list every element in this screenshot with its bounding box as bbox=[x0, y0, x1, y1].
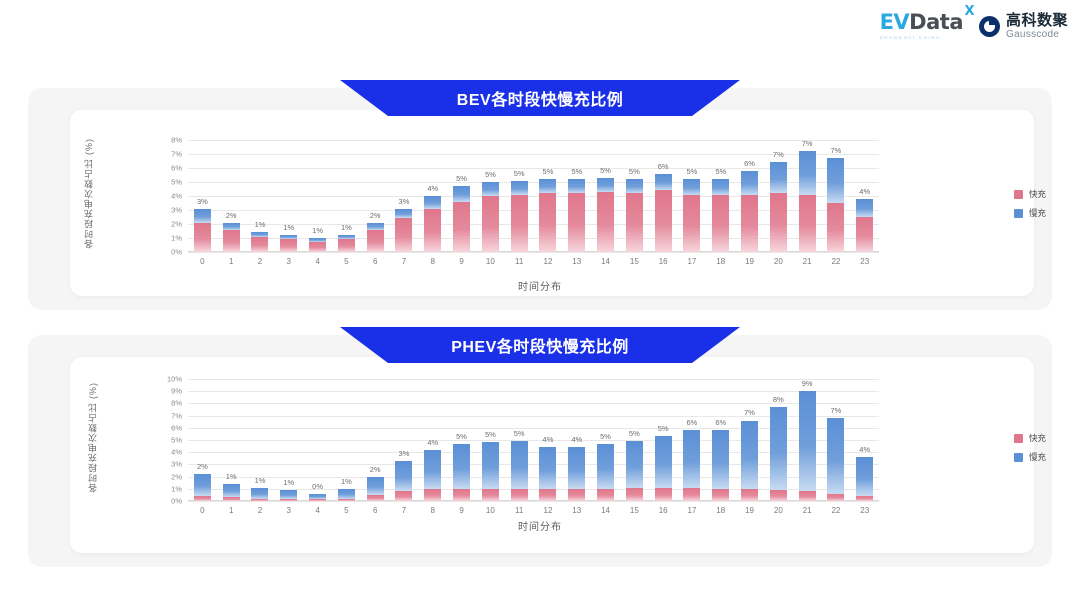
phev-stacked-bar[interactable]: 5% bbox=[655, 436, 672, 501]
phev-x-tick-label: 18 bbox=[716, 506, 725, 515]
bev-bar-slot[interactable]: 7%22 bbox=[822, 140, 851, 252]
bev-bar-slot[interactable]: 5%9 bbox=[447, 140, 476, 252]
bev-bar-segment-fast bbox=[770, 193, 787, 252]
bev-bar-segment-fast bbox=[799, 195, 816, 252]
bev-stacked-bar[interactable]: 5% bbox=[626, 179, 643, 252]
phev-y-axis-label: 各时段充电次数占比 (%) bbox=[86, 382, 99, 493]
evdata-suffix: Data bbox=[909, 10, 963, 34]
bev-y-tick-label: 5% bbox=[171, 178, 182, 187]
phev-bar-value-label: 2% bbox=[197, 462, 208, 471]
bev-bar-value-label: 7% bbox=[802, 139, 813, 148]
bev-bar-segment-slow bbox=[568, 179, 585, 193]
phev-bar-value-label: 2% bbox=[370, 465, 381, 474]
bev-bar-slot[interactable]: 5%11 bbox=[505, 140, 534, 252]
bev-x-tick-label: 12 bbox=[544, 257, 553, 266]
phev-bar-segment-slow bbox=[482, 442, 499, 488]
phev-bar-value-label: 1% bbox=[341, 477, 352, 486]
bev-stacked-bar[interactable]: 1% bbox=[251, 232, 268, 252]
phev-x-tick-label: 4 bbox=[315, 506, 319, 515]
phev-x-tick-label: 16 bbox=[659, 506, 668, 515]
phev-y-tick-label: 4% bbox=[171, 448, 182, 457]
bev-stacked-bar[interactable]: 6% bbox=[655, 174, 672, 252]
phev-bar-slot[interactable]: 4%12 bbox=[534, 379, 563, 501]
phev-bar-slot[interactable]: 5%14 bbox=[591, 379, 620, 501]
evdata-wordmark: EVDataX bbox=[880, 12, 963, 33]
bev-x-tick-label: 23 bbox=[860, 257, 869, 266]
bev-x-tick-label: 15 bbox=[630, 257, 639, 266]
bev-stacked-bar[interactable]: 5% bbox=[568, 179, 585, 252]
phev-bar-slot[interactable]: 5%10 bbox=[476, 379, 505, 501]
bev-stacked-bar[interactable]: 5% bbox=[511, 181, 528, 252]
phev-bar-slot[interactable]: 6%17 bbox=[678, 379, 707, 501]
phev-bar-value-label: 5% bbox=[485, 430, 496, 439]
bev-bar-value-label: 2% bbox=[370, 211, 381, 220]
bev-bar-value-label: 4% bbox=[859, 187, 870, 196]
phev-bar-segment-slow bbox=[683, 430, 700, 487]
phev-y-tick-label: 8% bbox=[171, 399, 182, 408]
phev-bar-slot[interactable]: 1%2 bbox=[246, 379, 275, 501]
phev-x-tick-label: 20 bbox=[774, 506, 783, 515]
bev-bar-slot[interactable]: 3%7 bbox=[390, 140, 419, 252]
bev-bar-value-label: 3% bbox=[399, 197, 410, 206]
bev-bar-segment-slow bbox=[367, 223, 384, 230]
phev-bar-slot[interactable]: 8%20 bbox=[764, 379, 793, 501]
phev-bar-value-label: 1% bbox=[255, 476, 266, 485]
bev-bar-slot[interactable]: 5%15 bbox=[620, 140, 649, 252]
phev-bar-segment-fast bbox=[338, 499, 355, 501]
bev-bar-slot[interactable]: 2%6 bbox=[361, 140, 390, 252]
phev-stacked-bar[interactable]: 6% bbox=[683, 430, 700, 501]
bev-gridline bbox=[188, 252, 879, 253]
phev-bar-slot[interactable]: 2%6 bbox=[361, 379, 390, 501]
bev-bar-segment-fast bbox=[424, 209, 441, 252]
phev-bar-segment-fast bbox=[280, 499, 297, 501]
bev-bar-value-label: 7% bbox=[773, 150, 784, 159]
phev-chart-title-ribbon: PHEV各时段快慢充比例 bbox=[340, 327, 740, 363]
phev-bar-segment-fast bbox=[770, 490, 787, 501]
phev-bar-segment-fast bbox=[482, 489, 499, 501]
bev-x-tick-label: 10 bbox=[486, 257, 495, 266]
bev-stacked-bar[interactable]: 1% bbox=[338, 235, 355, 252]
bev-bar-segment-slow bbox=[827, 158, 844, 203]
phev-bar-segment-slow bbox=[712, 430, 729, 489]
bev-x-tick-label: 22 bbox=[831, 257, 840, 266]
bev-bar-value-label: 1% bbox=[283, 223, 294, 232]
phev-y-tick-label: 2% bbox=[171, 472, 182, 481]
phev-bar-slot[interactable]: 0%4 bbox=[303, 379, 332, 501]
phev-y-tick-label: 9% bbox=[171, 387, 182, 396]
bev-bar-value-label: 1% bbox=[312, 226, 323, 235]
phev-x-tick-label: 12 bbox=[544, 506, 553, 515]
phev-bar-value-label: 0% bbox=[312, 482, 323, 491]
bev-bar-value-label: 7% bbox=[831, 146, 842, 155]
phev-bar-segment-fast bbox=[741, 489, 758, 501]
bev-bar-segment-fast bbox=[539, 193, 556, 252]
phev-bar-value-label: 4% bbox=[543, 435, 554, 444]
phev-bar-value-label: 4% bbox=[571, 435, 582, 444]
bev-chart: 0%1%2%3%4%5%6%7%8%3%02%11%21%31%41%52%63… bbox=[70, 110, 1034, 296]
phev-bar-segment-fast bbox=[712, 489, 729, 501]
evdata-logo-icon: EVDataX SHANGHAI CHINA bbox=[880, 12, 963, 40]
bev-bar-segment-fast bbox=[453, 202, 470, 252]
phev-bar-value-label: 7% bbox=[831, 406, 842, 415]
gausscode-cn-name: 高科数聚 bbox=[1006, 13, 1068, 28]
bev-bar-slot[interactable]: 5%10 bbox=[476, 140, 505, 252]
bev-chart-title-ribbon: BEV各时段快慢充比例 bbox=[340, 80, 740, 116]
phev-legend-item-fast[interactable]: 快充 bbox=[1014, 432, 1046, 444]
bev-stacked-bar[interactable]: 7% bbox=[770, 162, 787, 252]
evdata-x-mark: X bbox=[964, 5, 974, 18]
header-logo-bar: EVDataX SHANGHAI CHINA 高科数聚 Gausscode bbox=[880, 12, 1068, 40]
bev-bar-slot[interactable]: 3%0 bbox=[188, 140, 217, 252]
phev-bar-value-label: 6% bbox=[687, 418, 698, 427]
phev-bar-segment-slow bbox=[367, 477, 384, 495]
phev-bar-segment-slow bbox=[626, 441, 643, 487]
phev-bar-segment-slow bbox=[194, 474, 211, 496]
bev-bar-segment-fast bbox=[683, 195, 700, 252]
phev-bar-value-label: 5% bbox=[514, 429, 525, 438]
bev-bar-slot[interactable]: 5%14 bbox=[591, 140, 620, 252]
phev-x-tick-label: 0 bbox=[200, 506, 204, 515]
phev-stacked-bar[interactable]: 4% bbox=[539, 447, 556, 501]
bev-x-tick-label: 14 bbox=[601, 257, 610, 266]
bev-bar-segment-slow bbox=[655, 174, 672, 191]
phev-y-tick-label: 3% bbox=[171, 460, 182, 469]
phev-x-tick-label: 13 bbox=[572, 506, 581, 515]
bev-bar-segment-slow bbox=[856, 199, 873, 217]
bev-bar-segment-fast bbox=[309, 242, 326, 252]
phev-bar-slot[interactable]: 5%15 bbox=[620, 379, 649, 501]
phev-x-tick-label: 21 bbox=[803, 506, 812, 515]
phev-stacked-bar[interactable]: 2% bbox=[194, 474, 211, 501]
bev-bar-segment-slow bbox=[597, 178, 614, 192]
bev-bar-segment-fast bbox=[395, 218, 412, 252]
bev-stacked-bar[interactable]: 7% bbox=[799, 151, 816, 252]
phev-bar-segment-fast bbox=[597, 489, 614, 501]
phev-stacked-bar[interactable]: 2% bbox=[367, 477, 384, 501]
bev-legend-label-fast: 快充 bbox=[1029, 188, 1046, 200]
phev-bar-slot[interactable]: 5%11 bbox=[505, 379, 534, 501]
phev-bar-segment-slow bbox=[597, 444, 614, 489]
phev-y-tick-label: 7% bbox=[171, 411, 182, 420]
phev-bar-segment-fast bbox=[367, 495, 384, 501]
phev-bar-slot[interactable]: 9%21 bbox=[793, 379, 822, 501]
phev-bar-segment-fast bbox=[568, 489, 585, 501]
bev-bar-segment-fast bbox=[251, 237, 268, 252]
bev-stacked-bar[interactable]: 4% bbox=[856, 199, 873, 252]
bev-bar-value-label: 5% bbox=[715, 167, 726, 176]
phev-stacked-bar[interactable]: 5% bbox=[482, 442, 499, 501]
bev-stacked-bar[interactable]: 5% bbox=[453, 186, 470, 252]
phev-bar-segment-fast bbox=[683, 488, 700, 501]
bev-legend-item-slow[interactable]: 慢充 bbox=[1014, 207, 1046, 219]
bev-bar-value-label: 3% bbox=[197, 197, 208, 206]
bev-bar-slot[interactable]: 5%12 bbox=[534, 140, 563, 252]
phev-stacked-bar[interactable]: 9% bbox=[799, 391, 816, 501]
phev-bar-value-label: 1% bbox=[283, 478, 294, 487]
bev-x-tick-label: 4 bbox=[315, 257, 319, 266]
phev-bar-value-label: 5% bbox=[658, 424, 669, 433]
evdata-prefix: EV bbox=[880, 10, 910, 34]
phev-bar-value-label: 4% bbox=[859, 445, 870, 454]
phev-bar-segment-slow bbox=[338, 489, 355, 499]
phev-x-tick-label: 15 bbox=[630, 506, 639, 515]
bev-bar-slot[interactable]: 5%17 bbox=[678, 140, 707, 252]
phev-stacked-bar[interactable]: 5% bbox=[453, 444, 470, 501]
bev-bar-segment-slow bbox=[511, 181, 528, 195]
phev-stacked-bar[interactable]: 7% bbox=[827, 418, 844, 501]
phev-bar-segment-slow bbox=[741, 421, 758, 489]
bev-y-tick-label: 2% bbox=[171, 220, 182, 229]
phev-bar-segment-slow bbox=[251, 488, 268, 499]
bev-bar-segment-slow bbox=[482, 182, 499, 196]
bev-bar-segment-fast bbox=[856, 217, 873, 252]
bev-chart-card: 0%1%2%3%4%5%6%7%8%3%02%11%21%31%41%52%63… bbox=[70, 110, 1034, 296]
bev-bar-value-label: 4% bbox=[427, 184, 438, 193]
phev-x-tick-label: 8 bbox=[431, 506, 435, 515]
phev-bar-segment-fast bbox=[453, 489, 470, 501]
bev-bar-segment-slow bbox=[741, 171, 758, 195]
evdata-subtitle: SHANGHAI CHINA bbox=[880, 35, 941, 40]
bev-bar-slot[interactable]: 1%2 bbox=[246, 140, 275, 252]
phev-y-tick-label: 1% bbox=[171, 484, 182, 493]
bev-x-tick-label: 16 bbox=[659, 257, 668, 266]
phev-legend: 快充慢充 bbox=[1014, 432, 1046, 463]
bev-y-tick-label: 7% bbox=[171, 150, 182, 159]
bev-bar-segment-slow bbox=[453, 186, 470, 201]
bev-stacked-bar[interactable]: 2% bbox=[367, 223, 384, 252]
bev-bar-slot[interactable]: 7%21 bbox=[793, 140, 822, 252]
bev-stacked-bar[interactable]: 5% bbox=[539, 179, 556, 252]
bev-legend-swatch-fast bbox=[1014, 190, 1023, 199]
bev-stacked-bar[interactable]: 4% bbox=[424, 196, 441, 252]
bev-bar-value-label: 5% bbox=[514, 169, 525, 178]
bev-y-tick-label: 8% bbox=[171, 136, 182, 145]
bev-bar-value-label: 1% bbox=[341, 223, 352, 232]
phev-x-tick-label: 17 bbox=[687, 506, 696, 515]
bev-stacked-bar[interactable]: 1% bbox=[280, 235, 297, 252]
phev-bar-segment-fast bbox=[223, 497, 240, 501]
phev-bar-value-label: 3% bbox=[399, 449, 410, 458]
bev-stacked-bar[interactable]: 3% bbox=[194, 209, 211, 252]
phev-y-tick-label: 6% bbox=[171, 423, 182, 432]
bev-x-tick-label: 2 bbox=[258, 257, 262, 266]
bev-bar-segment-slow bbox=[712, 179, 729, 194]
phev-stacked-bar[interactable]: 5% bbox=[511, 441, 528, 501]
phev-bar-segment-slow bbox=[511, 441, 528, 489]
phev-x-axis-label: 时间分布 bbox=[0, 518, 1080, 533]
phev-legend-item-slow[interactable]: 慢充 bbox=[1014, 451, 1046, 463]
phev-bar-group: 2%01%11%21%30%41%52%63%74%85%95%105%114%… bbox=[188, 379, 879, 501]
gausscode-mark-icon bbox=[979, 16, 1000, 37]
phev-bar-segment-fast bbox=[309, 499, 326, 501]
phev-legend-swatch-fast bbox=[1014, 434, 1023, 443]
gausscode-logo-icon: 高科数聚 Gausscode bbox=[979, 13, 1068, 40]
bev-bar-segment-fast bbox=[597, 192, 614, 252]
phev-bar-value-label: 8% bbox=[773, 395, 784, 404]
phev-bar-slot[interactable]: 4%23 bbox=[850, 379, 879, 501]
bev-x-axis-label: 时间分布 bbox=[0, 278, 1080, 293]
bev-bar-slot[interactable]: 5%18 bbox=[706, 140, 735, 252]
bev-x-tick-label: 17 bbox=[687, 257, 696, 266]
bev-y-tick-label: 0% bbox=[171, 248, 182, 257]
phev-x-tick-label: 19 bbox=[745, 506, 754, 515]
bev-bar-segment-fast bbox=[655, 190, 672, 252]
bev-bar-value-label: 5% bbox=[687, 167, 698, 176]
bev-bar-slot[interactable]: 7%20 bbox=[764, 140, 793, 252]
bev-bar-value-label: 6% bbox=[744, 159, 755, 168]
bev-bar-slot[interactable]: 1%5 bbox=[332, 140, 361, 252]
phev-bar-value-label: 5% bbox=[456, 432, 467, 441]
phev-stacked-bar[interactable]: 4% bbox=[568, 447, 585, 501]
phev-bar-segment-slow bbox=[799, 391, 816, 491]
phev-bar-slot[interactable]: 4%13 bbox=[562, 379, 591, 501]
bev-x-tick-label: 11 bbox=[515, 257, 523, 266]
phev-bar-segment-slow bbox=[453, 444, 470, 489]
bev-x-tick-label: 20 bbox=[774, 257, 783, 266]
bev-bar-segment-slow bbox=[223, 223, 240, 230]
bev-x-tick-label: 21 bbox=[803, 257, 812, 266]
phev-bar-segment-fast bbox=[827, 494, 844, 501]
phev-bar-slot[interactable]: 4%8 bbox=[418, 379, 447, 501]
phev-y-tick-label: 10% bbox=[167, 375, 182, 384]
phev-stacked-bar[interactable]: 8% bbox=[770, 407, 787, 501]
bev-bar-segment-slow bbox=[194, 209, 211, 223]
bev-bar-segment-fast bbox=[223, 230, 240, 252]
bev-stacked-bar[interactable]: 1% bbox=[309, 238, 326, 252]
phev-stacked-bar[interactable]: 4% bbox=[424, 450, 441, 501]
phev-legend-label-fast: 快充 bbox=[1029, 432, 1046, 444]
bev-bar-segment-slow bbox=[424, 196, 441, 209]
phev-bar-segment-slow bbox=[223, 484, 240, 497]
bev-bar-slot[interactable]: 2%1 bbox=[217, 140, 246, 252]
phev-stacked-bar[interactable]: 6% bbox=[712, 430, 729, 501]
phev-bar-segment-slow bbox=[827, 418, 844, 494]
phev-plot-area: 0%1%2%3%4%5%6%7%8%9%10%2%01%11%21%30%41%… bbox=[188, 379, 879, 501]
bev-x-tick-label: 9 bbox=[459, 257, 463, 266]
phev-legend-label-slow: 慢充 bbox=[1029, 451, 1046, 463]
bev-stacked-bar[interactable]: 7% bbox=[827, 158, 844, 252]
bev-bar-segment-slow bbox=[770, 162, 787, 193]
phev-bar-segment-fast bbox=[799, 491, 816, 501]
phev-bar-segment-slow bbox=[856, 457, 873, 496]
phev-x-tick-label: 6 bbox=[373, 506, 377, 515]
bev-legend: 快充慢充 bbox=[1014, 188, 1046, 219]
bev-y-tick-label: 4% bbox=[171, 192, 182, 201]
bev-stacked-bar[interactable]: 5% bbox=[683, 179, 700, 252]
bev-bar-value-label: 2% bbox=[226, 211, 237, 220]
phev-stacked-bar[interactable]: 5% bbox=[597, 444, 614, 501]
phev-bar-slot[interactable]: 1%3 bbox=[274, 379, 303, 501]
phev-stacked-bar[interactable]: 7% bbox=[741, 420, 758, 501]
phev-bar-segment-fast bbox=[626, 488, 643, 501]
bev-bar-slot[interactable]: 5%13 bbox=[562, 140, 591, 252]
phev-bar-value-label: 7% bbox=[744, 408, 755, 417]
bev-stacked-bar[interactable]: 5% bbox=[482, 182, 499, 252]
phev-bar-slot[interactable]: 5%9 bbox=[447, 379, 476, 501]
phev-bar-segment-slow bbox=[568, 447, 585, 488]
phev-x-tick-label: 7 bbox=[402, 506, 406, 515]
bev-bar-slot[interactable]: 1%3 bbox=[274, 140, 303, 252]
phev-gridline bbox=[188, 501, 879, 502]
bev-bar-slot[interactable]: 4%8 bbox=[418, 140, 447, 252]
phev-bar-segment-slow bbox=[424, 450, 441, 489]
phev-bar-slot[interactable]: 1%5 bbox=[332, 379, 361, 501]
bev-bar-segment-fast bbox=[482, 196, 499, 252]
bev-stacked-bar[interactable]: 2% bbox=[223, 223, 240, 252]
phev-bar-slot[interactable]: 6%18 bbox=[706, 379, 735, 501]
phev-stacked-bar[interactable]: 3% bbox=[395, 461, 412, 501]
bev-stacked-bar[interactable]: 6% bbox=[741, 171, 758, 252]
phev-stacked-bar[interactable]: 1% bbox=[280, 490, 297, 501]
phev-bar-slot[interactable]: 7%19 bbox=[735, 379, 764, 501]
phev-bar-segment-fast bbox=[655, 488, 672, 501]
bev-x-tick-label: 3 bbox=[287, 257, 291, 266]
phev-bar-segment-fast bbox=[194, 496, 211, 501]
phev-bar-slot[interactable]: 7%22 bbox=[822, 379, 851, 501]
phev-bar-segment-fast bbox=[424, 489, 441, 501]
bev-stacked-bar[interactable]: 5% bbox=[597, 178, 614, 252]
phev-x-tick-label: 11 bbox=[515, 506, 523, 515]
bev-bar-segment-fast bbox=[741, 195, 758, 252]
phev-stacked-bar[interactable]: 1% bbox=[251, 488, 268, 501]
bev-bar-value-label: 5% bbox=[600, 166, 611, 175]
phev-bar-segment-fast bbox=[539, 489, 556, 501]
bev-bar-segment-fast bbox=[280, 239, 297, 252]
phev-bar-slot[interactable]: 3%7 bbox=[390, 379, 419, 501]
bev-stacked-bar[interactable]: 3% bbox=[395, 209, 412, 252]
phev-bar-segment-slow bbox=[655, 436, 672, 487]
bev-bar-segment-fast bbox=[626, 193, 643, 252]
phev-y-tick-label: 5% bbox=[171, 436, 182, 445]
bev-x-tick-label: 7 bbox=[402, 257, 406, 266]
phev-stacked-bar[interactable]: 4% bbox=[856, 457, 873, 501]
bev-bar-value-label: 5% bbox=[571, 167, 582, 176]
bev-bar-slot[interactable]: 6%19 bbox=[735, 140, 764, 252]
bev-bar-slot[interactable]: 6%16 bbox=[649, 140, 678, 252]
bev-x-tick-label: 0 bbox=[200, 257, 204, 266]
bev-bar-segment-slow bbox=[539, 179, 556, 193]
phev-stacked-bar[interactable]: 1% bbox=[223, 484, 240, 501]
bev-bar-segment-fast bbox=[338, 239, 355, 252]
bev-legend-item-fast[interactable]: 快充 bbox=[1014, 188, 1046, 200]
gausscode-en-name: Gausscode bbox=[1006, 30, 1068, 40]
bev-bar-value-label: 5% bbox=[456, 174, 467, 183]
bev-y-tick-label: 1% bbox=[171, 234, 182, 243]
phev-stacked-bar[interactable]: 0% bbox=[309, 494, 326, 501]
bev-bar-slot[interactable]: 1%4 bbox=[303, 140, 332, 252]
bev-y-tick-label: 6% bbox=[171, 164, 182, 173]
phev-legend-swatch-slow bbox=[1014, 453, 1023, 462]
phev-stacked-bar[interactable]: 1% bbox=[338, 489, 355, 501]
bev-stacked-bar[interactable]: 5% bbox=[712, 179, 729, 252]
bev-y-tick-label: 3% bbox=[171, 206, 182, 215]
bev-bar-segment-fast bbox=[367, 230, 384, 252]
bev-bar-value-label: 6% bbox=[658, 162, 669, 171]
bev-bar-value-label: 5% bbox=[543, 167, 554, 176]
phev-bar-segment-fast bbox=[511, 489, 528, 501]
phev-bar-slot[interactable]: 2%0 bbox=[188, 379, 217, 501]
phev-stacked-bar[interactable]: 5% bbox=[626, 441, 643, 501]
bev-bar-segment-slow bbox=[395, 209, 412, 219]
bev-bar-group: 3%02%11%21%31%41%52%63%74%85%95%105%115%… bbox=[188, 140, 879, 252]
phev-bar-segment-slow bbox=[280, 490, 297, 499]
phev-bar-value-label: 4% bbox=[427, 438, 438, 447]
bev-bar-slot[interactable]: 4%23 bbox=[850, 140, 879, 252]
phev-x-tick-label: 14 bbox=[601, 506, 610, 515]
phev-bar-slot[interactable]: 1%1 bbox=[217, 379, 246, 501]
phev-bar-slot[interactable]: 5%16 bbox=[649, 379, 678, 501]
